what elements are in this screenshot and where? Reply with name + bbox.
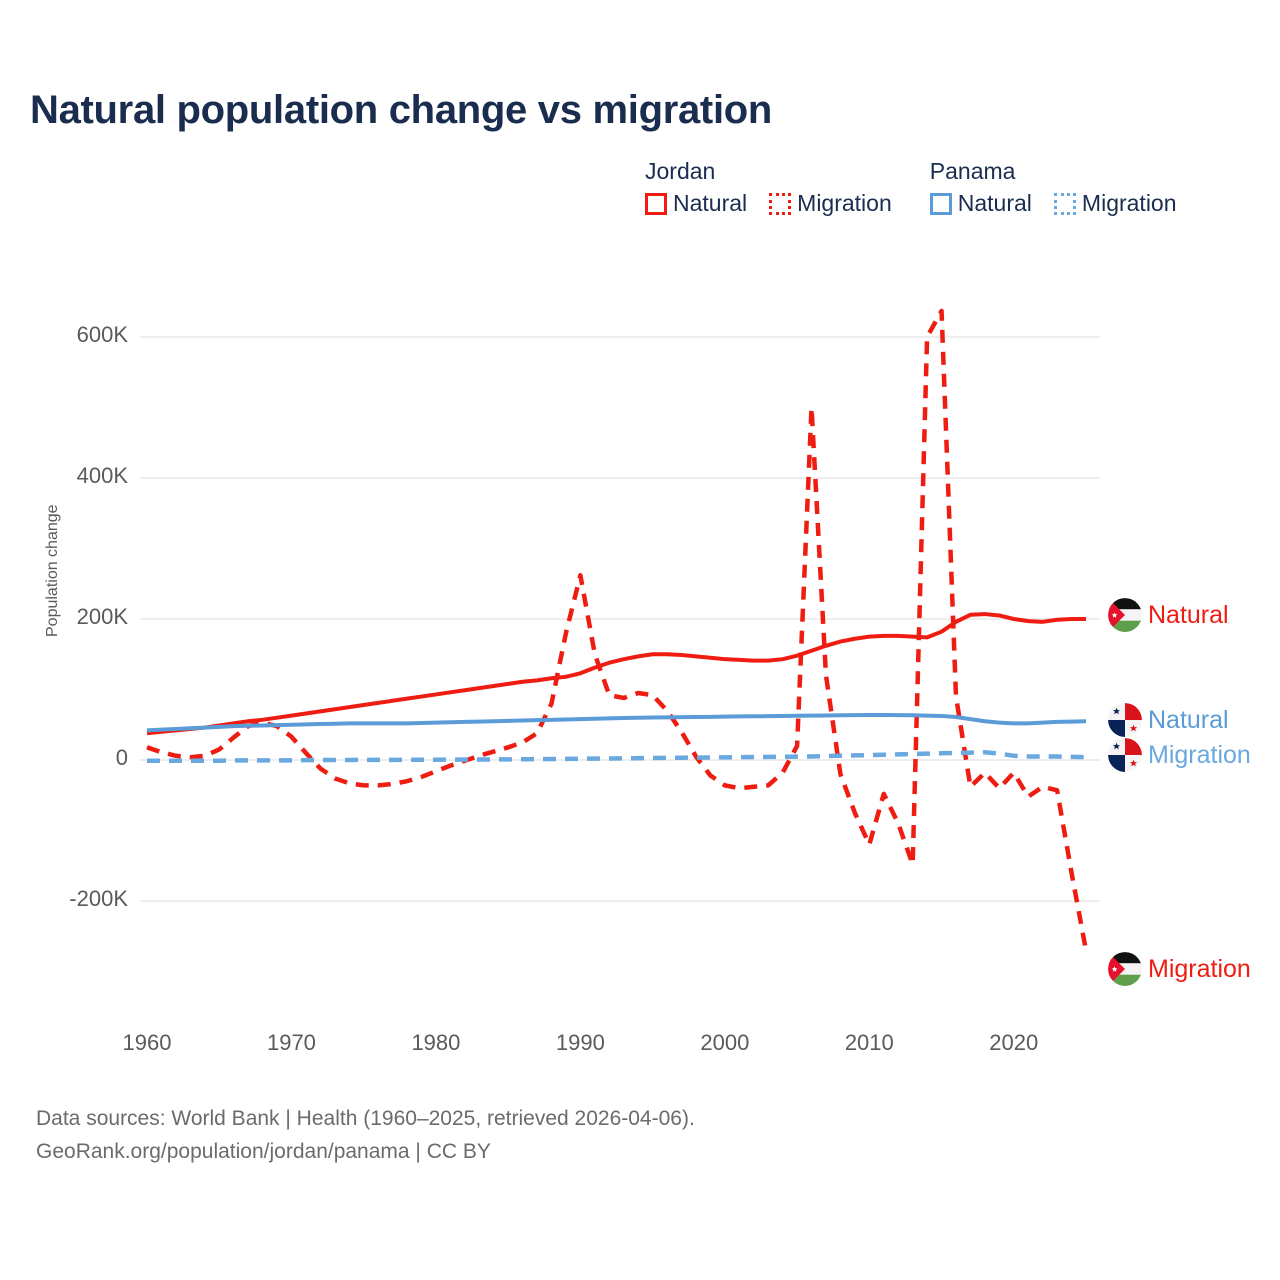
y-axis-tick-label: 200K: [77, 604, 128, 630]
y-axis-tick-label: -200K: [69, 886, 128, 912]
jordan-flag-icon: [1108, 952, 1142, 986]
end-label-panama-migration[interactable]: Migration: [1108, 738, 1251, 772]
x-axis-tick-label: 1990: [535, 1030, 625, 1056]
y-axis-tick-label: 600K: [77, 322, 128, 348]
end-label-jordan-natural[interactable]: Natural: [1108, 598, 1229, 632]
end-label-text: Migration: [1148, 957, 1251, 982]
x-axis-tick-label: 1960: [102, 1030, 192, 1056]
x-axis-tick-label: 1970: [246, 1030, 336, 1056]
footer-line-sources: Data sources: World Bank | Health (1960–…: [36, 1103, 695, 1136]
chart-page: Natural population change vs migration J…: [0, 0, 1280, 1280]
footer-line-attribution: GeoRank.org/population/jordan/panama | C…: [36, 1136, 695, 1169]
end-label-panama-natural[interactable]: Natural: [1108, 703, 1229, 737]
end-label-jordan-migration[interactable]: Migration: [1108, 952, 1251, 986]
chart-plot: [0, 0, 1280, 1280]
y-axis-tick-label: 400K: [77, 463, 128, 489]
x-axis-tick-label: 2020: [969, 1030, 1059, 1056]
jordan-flag-icon: [1108, 598, 1142, 632]
end-label-text: Natural: [1148, 708, 1229, 733]
x-axis-tick-label: 2010: [824, 1030, 914, 1056]
end-label-text: Migration: [1148, 743, 1251, 768]
x-axis-tick-label: 2000: [680, 1030, 770, 1056]
x-axis-tick-label: 1980: [391, 1030, 481, 1056]
panama-flag-icon: [1108, 703, 1142, 737]
y-axis-title: Population change: [44, 504, 62, 637]
end-label-text: Natural: [1148, 603, 1229, 628]
footer: Data sources: World Bank | Health (1960–…: [36, 1103, 695, 1168]
panama-flag-icon: [1108, 738, 1142, 772]
y-axis-tick-label: 0: [116, 745, 128, 771]
